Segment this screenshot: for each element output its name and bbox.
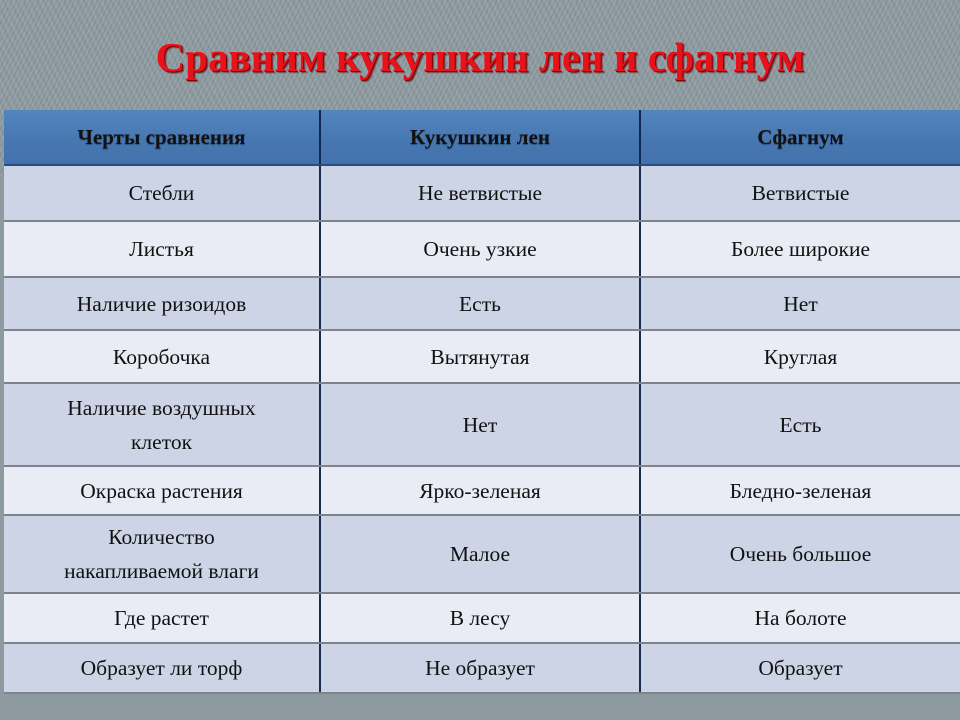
table-row: Где растет В лесу На болоте: [4, 593, 960, 643]
table-row: Наличие ризоидов Есть Нет: [4, 277, 960, 330]
cell-kukushkin-len: Вытянутая: [320, 330, 640, 383]
cell-kukushkin-len: Не образует: [320, 643, 640, 693]
comparison-table: Черты сравнения Кукушкин лен Сфагнум Сте…: [4, 110, 960, 694]
cell-feature: Листья: [4, 221, 320, 277]
table-row: Количество накапливаемой влаги Малое Оче…: [4, 515, 960, 593]
table-row: Наличие воздушных клеток Нет Есть: [4, 383, 960, 466]
table-header-row: Черты сравнения Кукушкин лен Сфагнум: [4, 110, 960, 165]
cell-sfagnum: Есть: [640, 383, 960, 466]
cell-kukushkin-len: Не ветвистые: [320, 165, 640, 221]
cell-kukushkin-len: Ярко-зеленая: [320, 466, 640, 515]
cell-kukushkin-len: Нет: [320, 383, 640, 466]
cell-feature: Образует ли торф: [4, 643, 320, 693]
table-header: Черты сравнения Кукушкин лен Сфагнум: [4, 110, 960, 165]
column-header-sfagnum: Сфагнум: [640, 110, 960, 165]
table-body: Стебли Не ветвистые Ветвистые Листья Оче…: [4, 165, 960, 693]
cell-sfagnum: Очень большое: [640, 515, 960, 593]
cell-sfagnum: На болоте: [640, 593, 960, 643]
cell-feature-line1: Наличие воздушных: [12, 391, 311, 425]
column-header-kukushkin-len: Кукушкин лен: [320, 110, 640, 165]
cell-feature: Коробочка: [4, 330, 320, 383]
table-row: Образует ли торф Не образует Образует: [4, 643, 960, 693]
cell-kukushkin-len: Есть: [320, 277, 640, 330]
cell-sfagnum: Круглая: [640, 330, 960, 383]
cell-kukushkin-len: Очень узкие: [320, 221, 640, 277]
cell-sfagnum: Нет: [640, 277, 960, 330]
cell-feature: Где растет: [4, 593, 320, 643]
cell-sfagnum: Бледно-зеленая: [640, 466, 960, 515]
cell-feature: Наличие воздушных клеток: [4, 383, 320, 466]
cell-feature-line1: Количество: [12, 520, 311, 554]
cell-feature: Наличие ризоидов: [4, 277, 320, 330]
cell-feature: Стебли: [4, 165, 320, 221]
table-row: Стебли Не ветвистые Ветвистые: [4, 165, 960, 221]
cell-sfagnum: Более широкие: [640, 221, 960, 277]
table-row: Окраска растения Ярко-зеленая Бледно-зел…: [4, 466, 960, 515]
cell-kukushkin-len: В лесу: [320, 593, 640, 643]
cell-feature-line2: накапливаемой влаги: [12, 554, 311, 588]
cell-feature-line2: клеток: [12, 425, 311, 459]
column-header-feature: Черты сравнения: [4, 110, 320, 165]
cell-feature: Окраска растения: [4, 466, 320, 515]
cell-kukushkin-len: Малое: [320, 515, 640, 593]
slide: Сравним кукушкин лен и сфагнум Черты сра…: [0, 0, 960, 720]
cell-sfagnum: Ветвистые: [640, 165, 960, 221]
table-row: Коробочка Вытянутая Круглая: [4, 330, 960, 383]
cell-feature: Количество накапливаемой влаги: [4, 515, 320, 593]
cell-sfagnum: Образует: [640, 643, 960, 693]
table-row: Листья Очень узкие Более широкие: [4, 221, 960, 277]
page-title: Сравним кукушкин лен и сфагнум: [0, 33, 960, 81]
